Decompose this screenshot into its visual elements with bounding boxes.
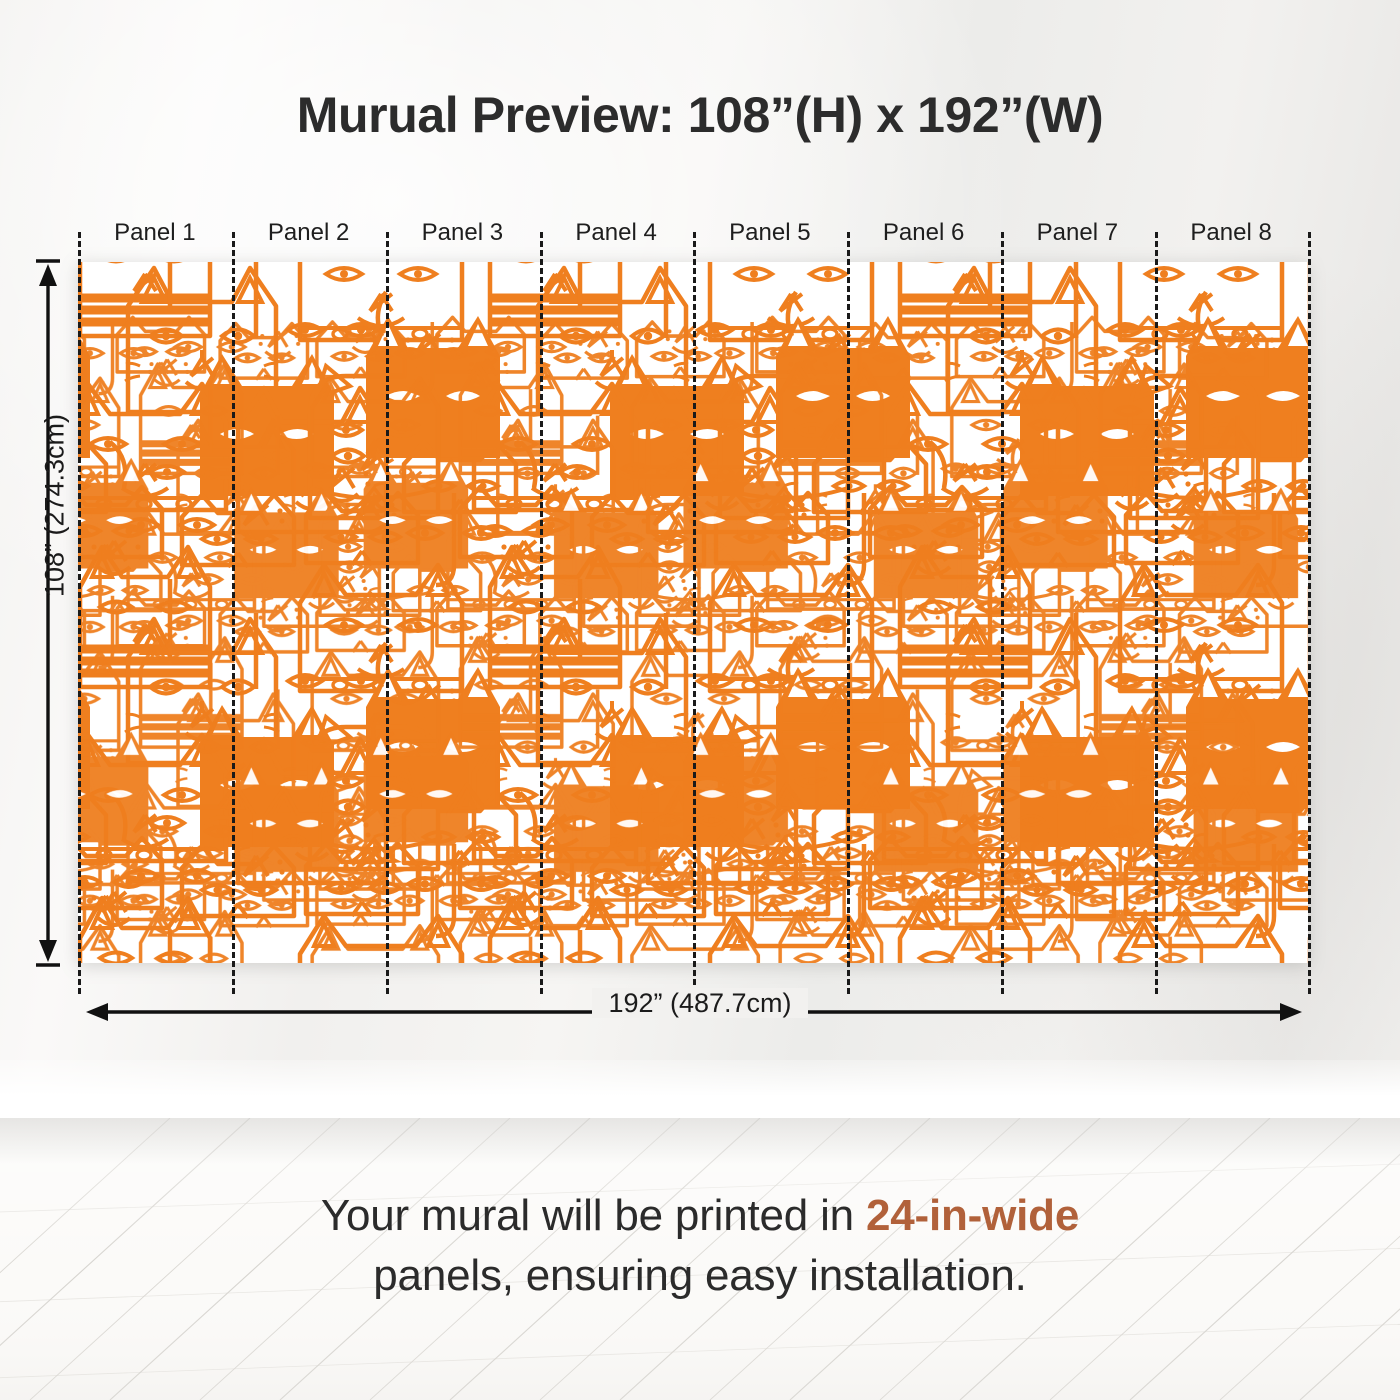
panel-label-1: Panel 1 (78, 216, 232, 250)
width-dimension-arrow (78, 995, 1310, 1029)
caption-line-1: Your mural will be printed in 24-in-wide (0, 1186, 1400, 1246)
caption-block: Your mural will be printed in 24-in-wide… (0, 1186, 1400, 1306)
mural-preview-screenshot: Murual Preview: 108”(H) x 192”(W) Panel … (0, 0, 1400, 1400)
panel-label-7: Panel 7 (1001, 216, 1155, 250)
panel-label-6: Panel 6 (847, 216, 1001, 250)
panel-label-row: Panel 1 Panel 2 Panel 3 Panel 4 Panel 5 … (78, 216, 1308, 250)
caption-line-1-prefix: Your mural will be printed in (321, 1191, 866, 1240)
caption-line-2: panels, ensuring easy installation. (0, 1246, 1400, 1306)
panel-label-3: Panel 3 (386, 216, 540, 250)
height-dimension-label: 108” (274.3cm) (40, 346, 71, 666)
cats-pattern-svg (78, 262, 1308, 963)
wall-baseboard (0, 1060, 1400, 1118)
mural-artwork (78, 262, 1308, 963)
panel-label-8: Panel 8 (1154, 216, 1308, 250)
caption-highlight: 24-in-wide (866, 1191, 1079, 1240)
page-title: Murual Preview: 108”(H) x 192”(W) (0, 86, 1400, 144)
panel-label-4: Panel 4 (539, 216, 693, 250)
panel-label-5: Panel 5 (693, 216, 847, 250)
panel-label-2: Panel 2 (232, 216, 386, 250)
